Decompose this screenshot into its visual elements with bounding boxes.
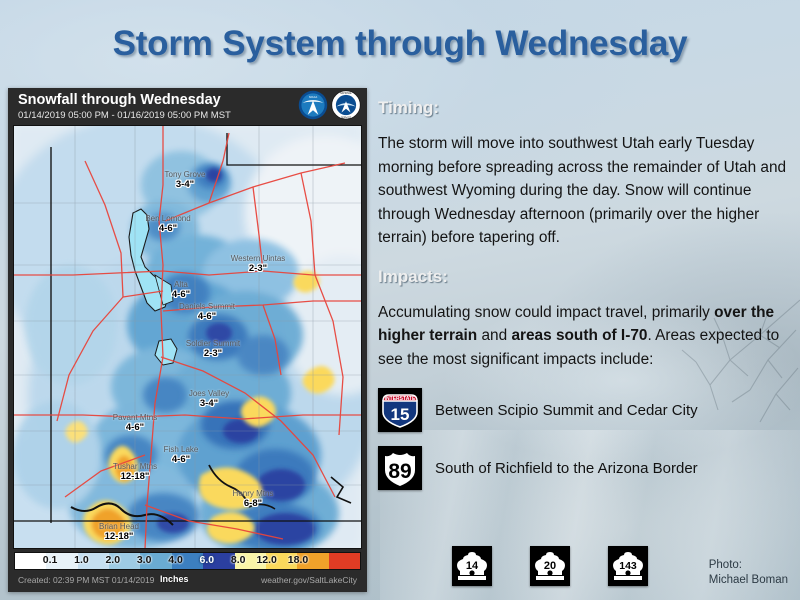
svg-text:15: 15 [391,405,410,424]
svg-text:143: 143 [619,560,637,572]
svg-text:NATIONAL: NATIONAL [340,92,352,95]
route-description-i15: Between Scipio Summit and Cedar City [435,402,698,419]
noaa-seal-icon: NOAA [298,90,328,120]
nws-seal-icon: NATIONAL SERVICE [331,90,361,120]
svg-text:INTERSTATE: INTERSTATE [385,396,416,402]
utah-route-20-shield-icon: 20 [530,546,570,586]
route-row-us89: 89 South of Richfield to the Arizona Bor… [378,446,790,490]
map-website-url[interactable]: weather.gov/SaltLakeCity [261,575,357,585]
timing-heading: Timing: [378,98,790,118]
photo-credit: Photo: Michael Boman [709,558,788,588]
agency-logos: NOAA NATIONAL SERVICE [298,90,361,120]
svg-text:14: 14 [466,560,479,572]
interstate-15-shield-icon: INTERSTATE 15 [378,388,422,432]
map-units-label: Inches [160,574,189,584]
route-description-us89: South of Richfield to the Arizona Border [435,460,698,477]
impacts-text-part2: and [477,327,511,344]
slide-canvas: Storm System through Wednesday Snowfall … [0,0,800,600]
utah-route-143-shield-icon: 143 [608,546,648,586]
photo-credit-author: Michael Boman [709,573,788,588]
timing-body: The storm will move into southwest Utah … [378,132,790,250]
impacts-text-part1: Accumulating snow could impact travel, p… [378,304,714,321]
impacts-heading: Impacts: [378,267,790,287]
map-footer: Created: 02:39 PM MST 01/14/2019 Inches … [8,572,367,592]
map-created-timestamp: Created: 02:39 PM MST 01/14/2019 [18,575,154,585]
svg-text:20: 20 [544,560,556,572]
state-route-shield-group: 14 20 143 [452,546,648,586]
snowfall-map-graphic [13,125,362,549]
route-row-i15: INTERSTATE 15 Between Scipio Summit and … [378,388,790,432]
svg-text:89: 89 [388,460,411,483]
utah-route-14-shield-icon: 14 [452,546,492,586]
legend-swatch [329,553,360,569]
snowfall-map-panel: Snowfall through Wednesday 01/14/2019 05… [8,88,367,592]
us-highway-89-shield-icon: 89 [378,446,422,490]
map-header: Snowfall through Wednesday 01/14/2019 05… [8,88,367,124]
content-column: Timing: The storm will move into southwe… [378,98,790,490]
legend-swatch: 0.1 [15,553,46,569]
impacts-bold-south-i70: areas south of I-70 [511,327,647,344]
svg-text:SERVICE: SERVICE [341,117,352,120]
svg-text:NOAA: NOAA [309,95,318,99]
snowfall-map-canvas[interactable]: Tony Grove 3-4" Ben Lomond 4-6" Western … [13,125,362,549]
impacts-body: Accumulating snow could impact travel, p… [378,301,790,372]
page-title: Storm System through Wednesday [0,24,800,64]
photo-credit-label: Photo: [709,558,788,573]
snowfall-legend-colorbar: 0.1 1.0 2.0 3.0 4.0 6.0 8.0 12.0 [14,552,361,570]
